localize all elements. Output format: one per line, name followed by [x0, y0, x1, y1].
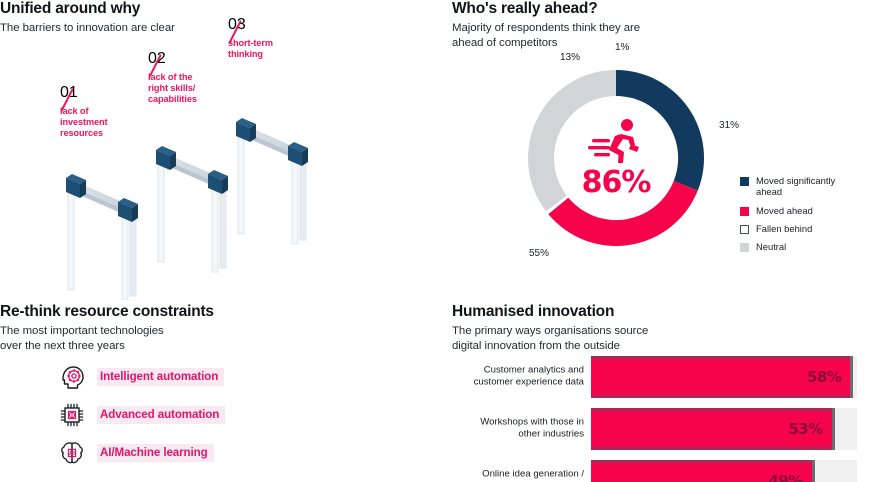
- legend-label-1: Moved ahead: [756, 205, 813, 216]
- infographic-page: Unified around why The barriers to innov…: [0, 0, 870, 482]
- head-gear-icon: [55, 360, 89, 394]
- legend-item-fallen-behind: Fallen behind: [740, 223, 870, 234]
- barrier-label-2: lack of the right skills/ capabilities: [148, 72, 197, 106]
- legend-swatch-gray: [740, 243, 749, 252]
- hurdles-svg: [0, 42, 440, 300]
- legend-item-moved-significantly-ahead: Moved significantly ahead: [740, 175, 870, 198]
- bar-track-2: 49%: [591, 460, 857, 482]
- hurdle-2: [156, 146, 228, 272]
- technology-label-0: Intelligent automation: [97, 368, 224, 386]
- donut-callout-55pct: 55%: [529, 248, 549, 259]
- bar-fill-0: 58%: [591, 356, 850, 398]
- bar-label-1: Workshops with those in other industries: [452, 417, 584, 442]
- bar-label-0: Customer analytics and customer experien…: [452, 365, 584, 390]
- hurdle-1: [66, 174, 138, 300]
- barrier-label-1: lack of investment resources: [60, 106, 108, 140]
- technology-item-ai-machine-learning[interactable]: AI AI/Machine learning: [55, 434, 225, 472]
- constraints-subtitle: The most important technologies over the…: [0, 324, 440, 354]
- bar-value-1: 53%: [788, 420, 822, 438]
- donut-legend: Moved significantly ahead Moved ahead Fa…: [740, 175, 870, 259]
- constraints-title: Re-think resource constraints: [0, 303, 440, 321]
- technology-list: Intelligent automation: [55, 358, 225, 472]
- bar-track-1: 53%: [591, 408, 857, 450]
- panel-ahead: Who's really ahead? Majority of responde…: [452, 0, 870, 300]
- ahead-subtitle: Majority of respondents think they are a…: [452, 21, 870, 51]
- bar-row: Online idea generation / Online communit…: [452, 460, 870, 482]
- bar-chart: Customer analytics and customer experien…: [452, 356, 870, 482]
- panel-humanised: Humanised innovation The primary ways or…: [452, 303, 870, 482]
- barrier-item-3: 03 short-term thinking: [228, 16, 273, 60]
- barriers-subtitle: The barriers to innovation are clear: [0, 21, 440, 36]
- barriers-title: Unified around why: [0, 0, 440, 18]
- legend-swatch-pink: [740, 207, 749, 216]
- donut-center-value: 86%: [556, 168, 676, 198]
- ahead-title: Who's really ahead?: [452, 0, 870, 18]
- hurdles-illustration: 01 lack of investment resources 02 lack …: [0, 42, 440, 300]
- barrier-item-1: 01 lack of investment resources: [60, 84, 108, 140]
- bar-fill-1: 53%: [591, 408, 832, 450]
- barrier-label-3: short-term thinking: [228, 38, 273, 60]
- panel-constraints: Re-think resource constraints The most i…: [0, 303, 440, 482]
- donut-center-content: 86%: [556, 118, 676, 198]
- humanised-subtitle: The primary ways organisations source di…: [452, 324, 870, 354]
- bar-track-0: 58%: [591, 356, 857, 398]
- bar-row: Customer analytics and customer experien…: [452, 356, 870, 398]
- cpu-chip-icon: [55, 398, 89, 432]
- technology-item-intelligent-automation[interactable]: Intelligent automation: [55, 358, 225, 396]
- donut-chart: 86% 1% 31% 55% 13%: [507, 58, 725, 258]
- hurdle-3: [236, 118, 308, 244]
- barrier-item-2: 02 lack of the right skills/ capabilitie…: [148, 50, 197, 106]
- technology-label-1: Advanced automation: [97, 406, 225, 424]
- legend-swatch-navy: [740, 177, 749, 186]
- legend-label-2: Fallen behind: [756, 223, 812, 234]
- bar-value-0: 58%: [807, 368, 841, 386]
- legend-item-neutral: Neutral: [740, 241, 870, 252]
- legend-label-3: Neutral: [756, 241, 786, 252]
- running-person-icon: [587, 118, 645, 166]
- brain-ai-icon: AI: [55, 436, 89, 470]
- legend-item-moved-ahead: Moved ahead: [740, 205, 870, 216]
- humanised-title: Humanised innovation: [452, 303, 870, 321]
- donut-callout-1pct: 1%: [615, 42, 629, 53]
- svg-text:AI: AI: [69, 451, 75, 457]
- legend-label-0: Moved significantly ahead: [756, 175, 835, 198]
- donut-callout-31pct: 31%: [719, 120, 739, 131]
- bar-label-2: Online idea generation / Online communit…: [452, 469, 584, 482]
- technology-item-advanced-automation[interactable]: Advanced automation: [55, 396, 225, 434]
- donut-callout-13pct: 13%: [560, 52, 580, 63]
- panel-barriers: Unified around why The barriers to innov…: [0, 0, 440, 300]
- bar-row: Workshops with those in other industries…: [452, 408, 870, 450]
- legend-swatch-white: [740, 225, 749, 234]
- bar-value-2: 49%: [768, 472, 802, 482]
- bar-fill-2: 49%: [591, 460, 812, 482]
- technology-label-2: AI/Machine learning: [97, 444, 214, 462]
